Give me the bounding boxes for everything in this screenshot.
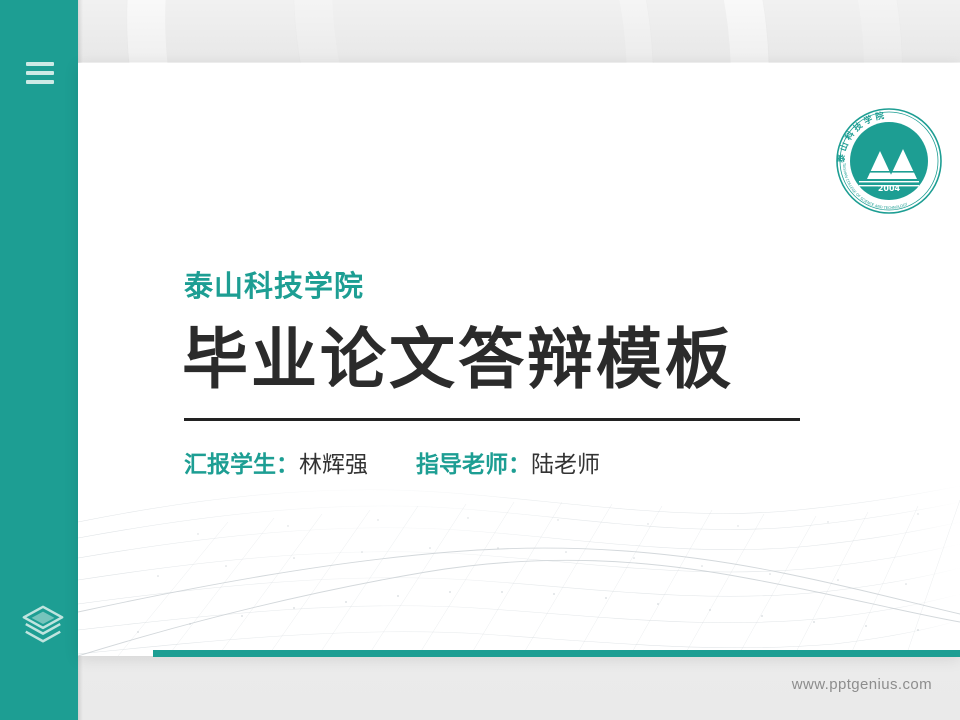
advisor-name: 陆老师 xyxy=(531,451,600,477)
presenter-name: 林辉强 xyxy=(299,451,368,477)
title-divider xyxy=(184,418,800,421)
slide-card: 2004 泰 山 科 技 学 院 TAISHAN COLLEGE OF SCIE… xyxy=(78,63,960,656)
hamburger-menu-icon[interactable] xyxy=(26,62,54,84)
taishan-college-seal-logo: 2004 泰 山 科 技 学 院 TAISHAN COLLEGE OF SCIE… xyxy=(833,105,945,217)
presenter-label: 汇报学生： xyxy=(184,451,299,477)
credits-line: 汇报学生：林辉强指导老师：陆老师 xyxy=(184,445,600,479)
menu-bar-3 xyxy=(26,80,54,84)
menu-bar-2 xyxy=(26,71,54,75)
title-slide: 2004 泰 山 科 技 学 院 TAISHAN COLLEGE OF SCIE… xyxy=(0,0,960,720)
menu-bar-1 xyxy=(26,62,54,66)
layers-stack-icon[interactable] xyxy=(20,603,66,647)
background-top-shade xyxy=(0,0,960,62)
school-name: 泰山科技学院 xyxy=(184,263,364,305)
footer-url: www.pptgenius.com xyxy=(792,676,932,693)
advisor-label: 指导老师： xyxy=(416,451,531,477)
svg-text:2004: 2004 xyxy=(878,184,901,193)
page-title: 毕业论文答辩模板 xyxy=(182,306,734,402)
bottom-accent-bar xyxy=(153,650,960,657)
